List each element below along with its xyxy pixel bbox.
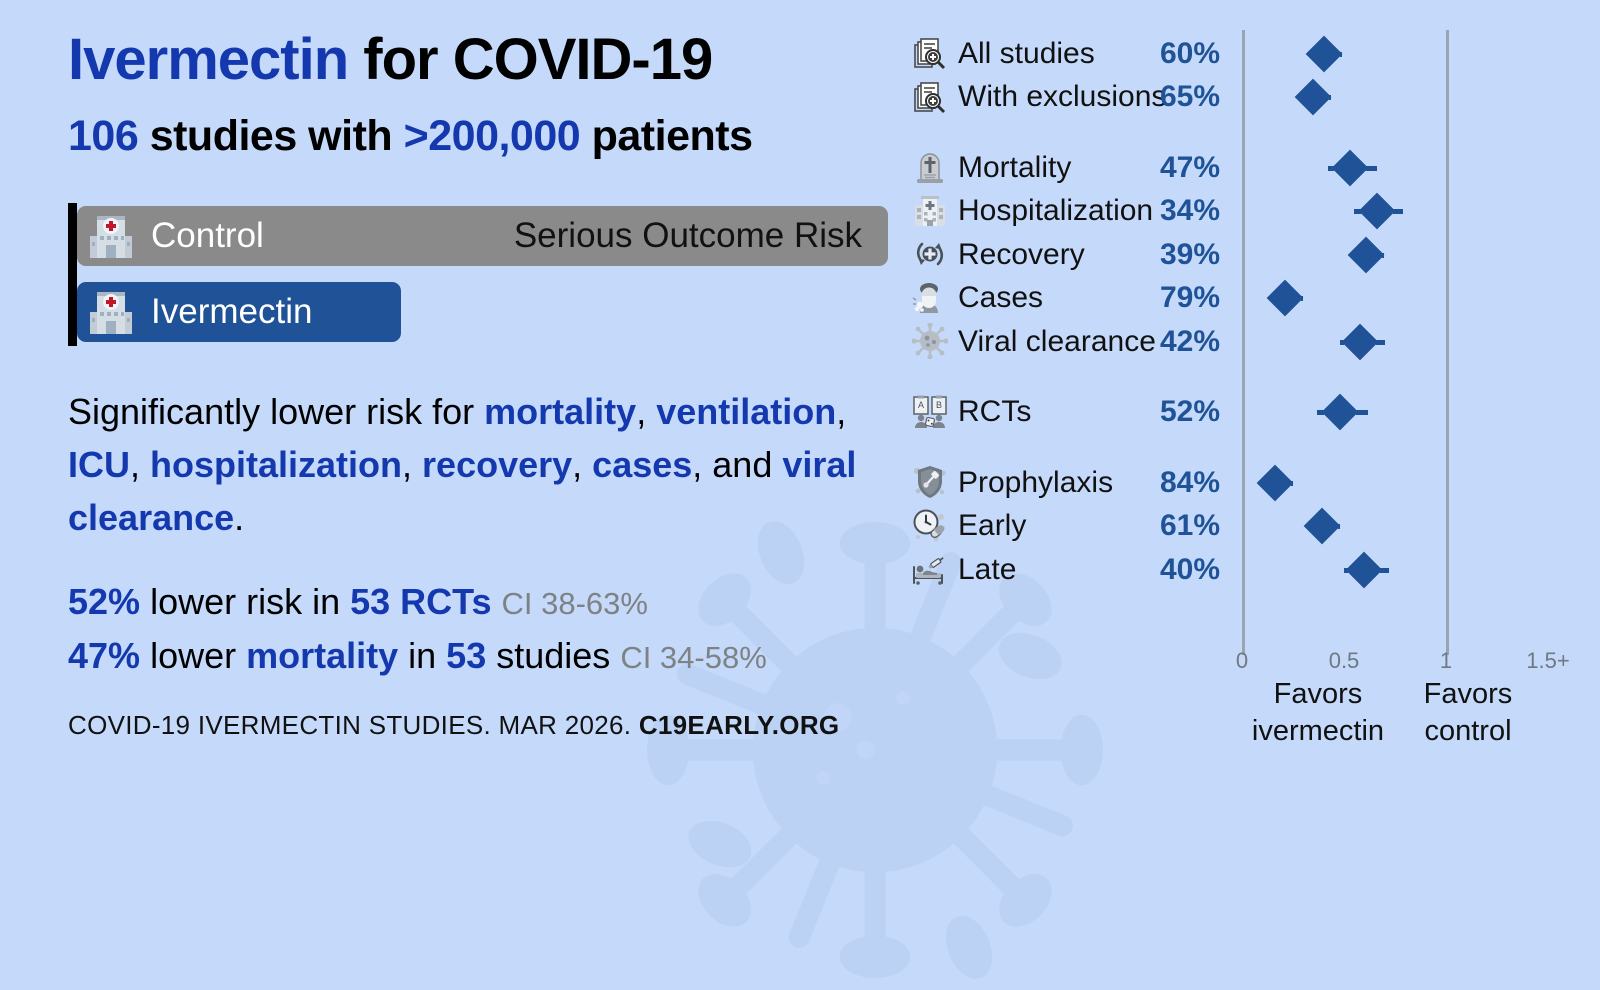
forest-row-improvement: 84% <box>1130 461 1220 504</box>
control-risk-bar: Control Serious Outcome Risk <box>77 206 888 266</box>
ivermectin-risk-bar: Ivermectin <box>77 282 401 342</box>
chart-baseline-axis <box>68 203 77 346</box>
favors-right-line2: control <box>1424 713 1513 750</box>
forest-row: All studies60% <box>900 32 1600 75</box>
effect-estimate-diamond <box>1295 79 1332 116</box>
forest-row-improvement: 47% <box>1130 146 1220 189</box>
forest-row-label: Cases <box>958 277 1043 320</box>
favors-control-label: Favors control <box>1424 676 1513 750</box>
forest-row-label: Hospitalization <box>958 190 1153 233</box>
summary-term-cases: cases <box>592 444 692 485</box>
page-title: Ivermectin for COVID-19 <box>68 26 712 93</box>
control-bar-label: Control <box>151 216 264 256</box>
studies-search-icon <box>912 79 948 115</box>
stat-rcts-mid: lower risk in <box>140 581 350 622</box>
forest-row-label: Viral clearance <box>958 320 1156 363</box>
stat-rcts-count: 53 RCTs <box>350 581 491 622</box>
forest-row-label: RCTs <box>958 391 1031 434</box>
forest-row: Viral clearance42% <box>900 320 1600 363</box>
effect-estimate-diamond <box>1348 236 1385 273</box>
effect-estimate-diamond <box>1332 149 1369 186</box>
serious-outcome-risk-chart: Control Serious Outcome Risk <box>68 203 888 346</box>
effect-estimate-diamond <box>1305 35 1342 72</box>
forest-row: Recovery39% <box>900 233 1600 276</box>
forest-row-improvement: 61% <box>1130 505 1220 548</box>
subtitle-mid: studies with <box>138 112 403 160</box>
stat-mortality-percent: 47% <box>68 635 140 676</box>
summary-text-3: , <box>836 391 846 432</box>
svg-text:A: A <box>918 400 924 410</box>
summary-text-4: , <box>130 444 150 485</box>
stat-rcts-percent: 52% <box>68 581 140 622</box>
footer-site[interactable]: C19EARLY.ORG <box>639 710 840 740</box>
forest-row: Cases79% <box>900 277 1600 320</box>
hospital-icon <box>85 286 137 338</box>
forest-row-label: Prophylaxis <box>958 461 1113 504</box>
page-subtitle: 106 studies with >200,000 patients <box>68 112 752 161</box>
axis-tick-label: 1 <box>1440 648 1452 674</box>
forest-plot: All studies60% With exclusions65% Mortal… <box>900 0 1600 800</box>
stat-mortality-term: mortality <box>246 635 398 676</box>
stat-rcts: 52% lower risk in 53 RCTs CI 38-63% <box>68 581 648 623</box>
summary-text-8: . <box>234 497 244 538</box>
summary-term-ventilation: ventilation <box>656 391 836 432</box>
favors-left-line2: ivermectin <box>1252 713 1384 750</box>
subtitle-end: patients <box>580 112 752 160</box>
forest-row-improvement: 42% <box>1130 320 1220 363</box>
forest-row-improvement: 65% <box>1130 76 1220 119</box>
stat-mortality-ci: CI 34-58% <box>620 640 766 675</box>
forest-row-improvement: 52% <box>1130 391 1220 434</box>
summary-term-mortality: mortality <box>484 391 636 432</box>
tombstone-icon <box>912 149 948 185</box>
forest-row-improvement: 40% <box>1130 548 1220 591</box>
stat-mortality-mid-1: lower <box>140 635 246 676</box>
forest-row: With exclusions65% <box>900 76 1600 119</box>
summary-text-7: , and <box>692 444 782 485</box>
svg-text:B: B <box>936 400 942 410</box>
forest-row-label: All studies <box>958 32 1095 75</box>
shield-syringe-icon <box>912 464 948 500</box>
virus-icon <box>912 323 948 359</box>
stat-mortality: 47% lower mortality in 53 studies CI 34-… <box>68 635 767 677</box>
randomized-trial-icon: A B <box>912 394 948 430</box>
favors-left-line1: Favors <box>1252 676 1384 713</box>
forest-row-improvement: 60% <box>1130 32 1220 75</box>
summary-text-1: Significantly lower risk for <box>68 391 484 432</box>
subtitle-study-count: 106 <box>68 112 138 160</box>
effect-estimate-diamond <box>1303 508 1340 545</box>
stat-mortality-mid-3: studies <box>486 635 610 676</box>
hospital-bed-icon <box>912 551 948 587</box>
effect-estimate-diamond <box>1256 464 1293 501</box>
studies-search-icon <box>912 35 948 71</box>
left-panel: Ivermectin for COVID-19 106 studies with… <box>0 0 900 800</box>
forest-row: Late40% <box>900 548 1600 591</box>
axis-tick-label: 1.5+ <box>1526 648 1569 674</box>
subtitle-patient-count: >200,000 <box>404 112 581 160</box>
axis-tick-label: 0.5 <box>1329 648 1360 674</box>
effect-estimate-diamond <box>1322 394 1359 431</box>
summary-text-2: , <box>636 391 656 432</box>
footer-attribution: COVID-19 IVERMECTIN STUDIES. MAR 2026. C… <box>68 710 839 741</box>
favors-ivermectin-label: Favors ivermectin <box>1252 676 1384 750</box>
stat-mortality-count: 53 <box>446 635 486 676</box>
summary-term-hospitalization: hospitalization <box>150 444 402 485</box>
risk-chart-title: Serious Outcome Risk <box>514 206 862 266</box>
ivermectin-bar-label: Ivermectin <box>151 292 312 332</box>
footer-text: COVID-19 IVERMECTIN STUDIES. MAR 2026. <box>68 710 639 740</box>
forest-row: Early61% <box>900 505 1600 548</box>
summary-text-6: , <box>572 444 592 485</box>
forest-row: Hospitalization34% <box>900 190 1600 233</box>
forest-row-label: Mortality <box>958 146 1071 189</box>
stat-mortality-mid-2: in <box>398 635 446 676</box>
effect-estimate-diamond <box>1266 280 1303 317</box>
effect-estimate-diamond <box>1358 193 1395 230</box>
effect-estimate-diamond <box>1342 323 1379 360</box>
axis-tick-label: 0 <box>1236 648 1248 674</box>
hospital-building-icon <box>912 193 948 229</box>
forest-row: Mortality47% <box>900 146 1600 189</box>
forest-row: A B RCTs52% <box>900 391 1600 434</box>
summary-paragraph: Significantly lower risk for mortality, … <box>68 385 878 544</box>
favors-right-line1: Favors <box>1424 676 1513 713</box>
clock-pill-icon <box>912 508 948 544</box>
stat-rcts-ci: CI 38-63% <box>502 586 648 621</box>
forest-row-improvement: 79% <box>1130 277 1220 320</box>
sick-person-icon <box>912 280 948 316</box>
forest-row-label: Recovery <box>958 233 1085 276</box>
summary-term-icu: ICU <box>68 444 130 485</box>
forest-row-label: Early <box>958 505 1026 548</box>
recovery-arrows-icon <box>912 236 948 272</box>
forest-row-label: Late <box>958 548 1016 591</box>
summary-text-5: , <box>402 444 422 485</box>
effect-estimate-diamond <box>1346 551 1383 588</box>
forest-row-improvement: 39% <box>1130 233 1220 276</box>
title-highlight: Ivermectin <box>68 27 348 92</box>
forest-row: Prophylaxis84% <box>900 461 1600 504</box>
hospital-icon <box>85 210 137 262</box>
title-rest: for COVID-19 <box>348 27 712 92</box>
summary-term-recovery: recovery <box>422 444 572 485</box>
forest-row-improvement: 34% <box>1130 190 1220 233</box>
